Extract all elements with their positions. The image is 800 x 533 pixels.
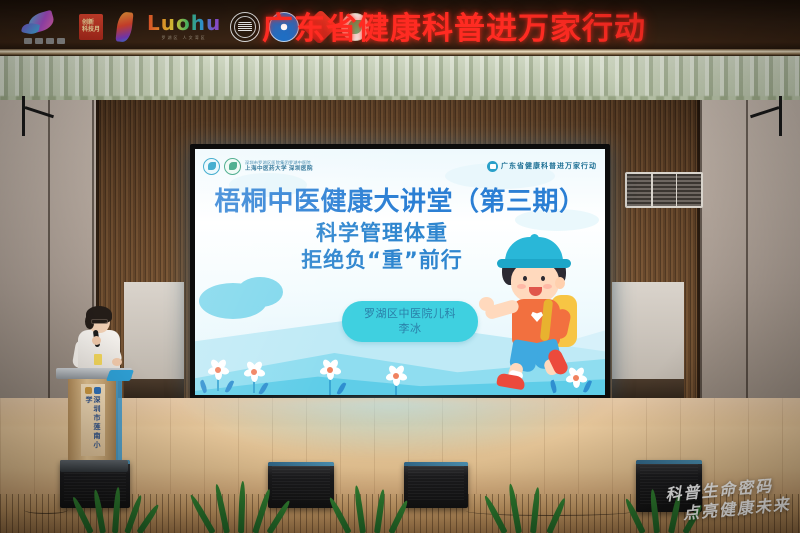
air-vent-icon (625, 172, 703, 208)
podium-sign: 深圳市莲南小学 (81, 384, 105, 456)
slide-title: 梧桐中医健康大讲堂（第三期） (195, 181, 605, 218)
s-swirl-logo-icon (112, 10, 138, 44)
school-emblem-icon (84, 387, 102, 395)
closet-doors-right (700, 100, 800, 430)
podium-sign-text: 深圳市莲南小学 (85, 396, 101, 456)
hospital-name-line1: 深圳市罗湖区医院集团罗湖中医院 (245, 160, 313, 165)
potted-plant (206, 481, 286, 533)
slide-subtitle: 科学管理体重 拒绝负“重”前行 (195, 221, 605, 273)
speaker-department: 罗湖区中医院儿科 (364, 307, 456, 321)
speaker-badge: 罗湖区中医院儿科 李冰 (342, 301, 478, 342)
hospital-name-line2: 上海中医药大学 深圳医院 (245, 166, 313, 172)
slide-header: 深圳市罗湖区医院集团罗湖中医院 上海中医药大学 深圳医院 广东省健康科普进万家行… (195, 149, 605, 179)
ceiling-truss-right (748, 96, 782, 136)
led-screen: 深圳市罗湖区医院集团罗湖中医院 上海中医药大学 深圳医院 广东省健康科普进万家行… (190, 144, 610, 400)
luohu-logo-icon: Luohu 罗湖区 人文湾区 (147, 10, 221, 44)
potted-plant (498, 483, 574, 533)
door-frame-right (697, 100, 700, 430)
tcm-logo-icon (224, 158, 241, 175)
university-seal-logo-icon (230, 12, 260, 42)
flower-illustration (245, 363, 263, 381)
bird-logo-icon (18, 9, 70, 45)
stage-monitor-speaker (404, 462, 468, 508)
stage-valance-curtain (0, 56, 800, 103)
luohu-logo-sub: 罗湖区 人文湾区 (162, 35, 207, 41)
ceiling-truss-left (22, 96, 56, 136)
flower-illustration (387, 367, 405, 385)
lecture-hall-photo: 创新科技月 Luohu 罗湖区 人文湾区 广东省健康科普进万家行动 (0, 0, 800, 533)
doorway-alcove-right (612, 282, 684, 410)
campaign-logo-icon (487, 161, 498, 172)
podium: 深圳市莲南小学 (60, 368, 128, 478)
presentation-slide: 深圳市罗湖区医院集团罗湖中医院 上海中医药大学 深圳医院 广东省健康科普进万家行… (195, 149, 605, 395)
slide-subtitle-line1: 科学管理体重 (316, 221, 448, 246)
slide-header-right-badge: 广东省健康科普进万家行动 (487, 161, 597, 172)
ceiling-band: 创新科技月 Luohu 罗湖区 人文湾区 广东省健康科普进万家行动 (0, 0, 800, 56)
cable (24, 506, 68, 514)
doorway-alcove-left (124, 282, 184, 410)
hospital-logo-icon (203, 158, 220, 175)
led-banner-text: 广东省健康科普进万家行动 (262, 3, 782, 47)
podium-base (60, 460, 128, 472)
valance-folds (0, 56, 800, 103)
potted-plant (342, 485, 412, 533)
podium-side-accent (116, 380, 122, 462)
flower-illustration (209, 361, 227, 379)
campaign-name: 广东省健康科普进万家行动 (501, 161, 597, 171)
slide-header-left-logos: 深圳市罗湖区医院集团罗湖中医院 上海中医药大学 深圳医院 (203, 158, 313, 175)
cloud-shape (237, 277, 283, 307)
slide-subtitle-line2: 拒绝负“重”前行 (301, 248, 463, 273)
speaker-name: 李冰 (399, 322, 422, 336)
podium-blue-panel (106, 370, 134, 381)
flower-illustration (321, 361, 339, 379)
potted-plant (82, 487, 152, 533)
red-square-logo-icon: 创新科技月 (79, 14, 103, 40)
